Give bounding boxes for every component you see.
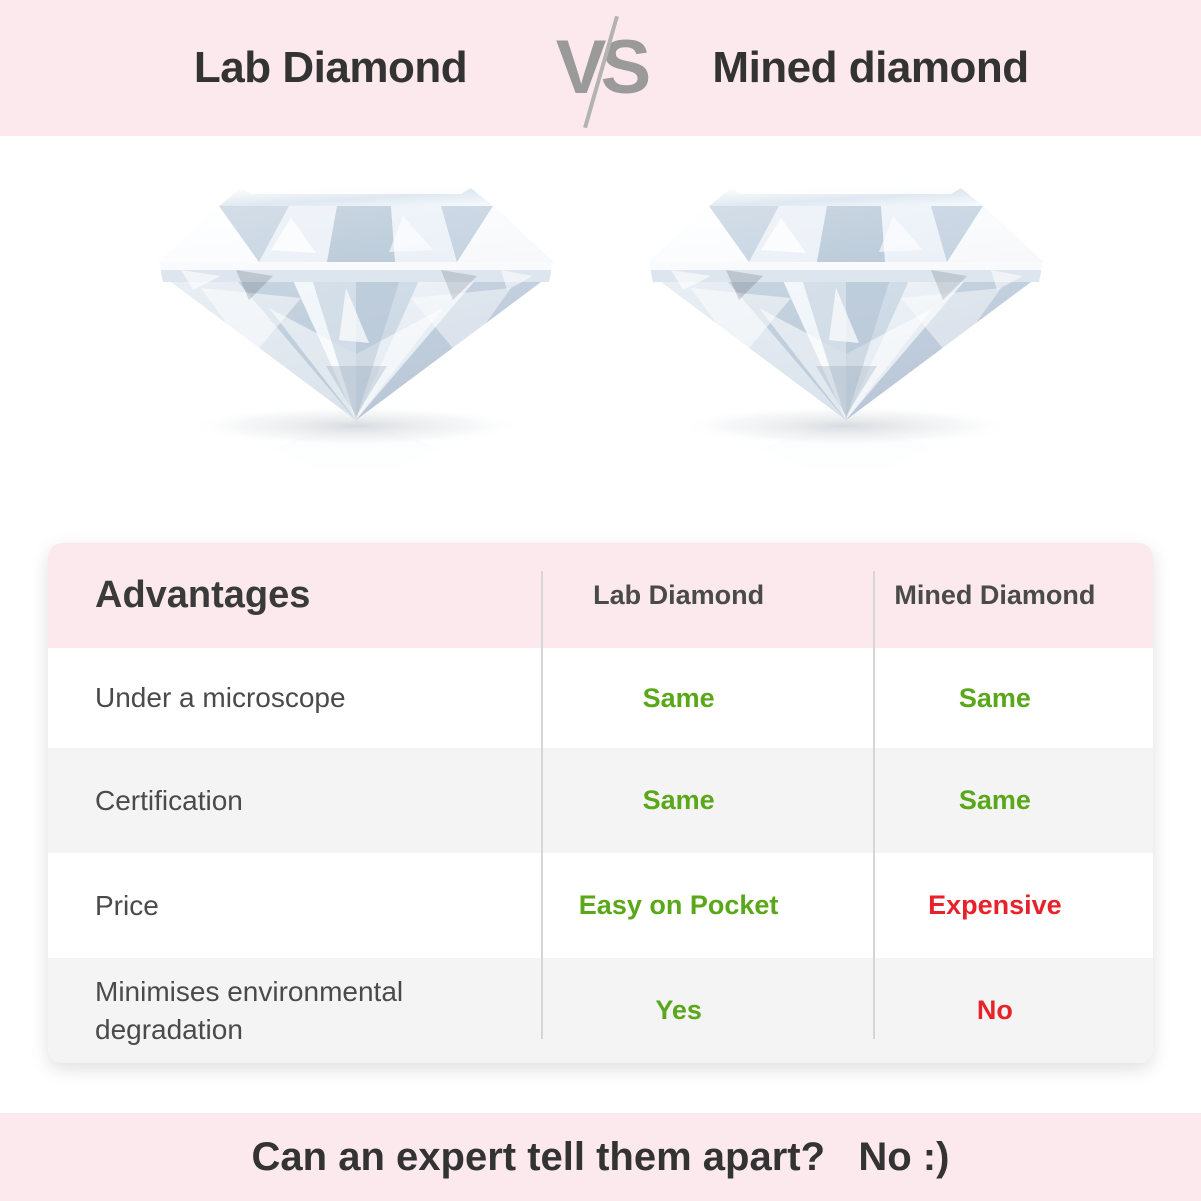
table-header-advantages: Advantages: [48, 570, 520, 621]
page-title-lab-diamond: Lab Diamond: [121, 43, 541, 93]
table-row: Under a microscope Same Same: [48, 648, 1153, 748]
table-header-mined-diamond: Mined Diamond: [837, 580, 1153, 611]
table-row: Minimises environmental degradation Yes …: [48, 958, 1153, 1063]
row-value-lab: Yes: [520, 995, 836, 1026]
row-value-lab: Same: [520, 785, 836, 816]
row-value-mined: Expensive: [837, 890, 1153, 921]
column-divider-1: [541, 571, 543, 1039]
footer-band: Can an expert tell them apart? No :): [0, 1113, 1201, 1201]
table-header-lab-diamond: Lab Diamond: [520, 580, 836, 611]
lab-diamond-image: [141, 158, 571, 518]
versus-badge: VS: [541, 8, 661, 128]
table-row: Price Easy on Pocket Expensive: [48, 853, 1153, 958]
comparison-table: Advantages Lab Diamond Mined Diamond Und…: [48, 543, 1153, 1063]
row-value-lab: Easy on Pocket: [520, 890, 836, 921]
diamond-illustration-mined: [631, 158, 1061, 518]
row-label: Price: [48, 887, 520, 925]
comparison-table-card: Advantages Lab Diamond Mined Diamond Und…: [48, 543, 1153, 1063]
column-divider-2: [873, 571, 875, 1039]
row-value-lab: Same: [520, 683, 836, 714]
row-value-mined: Same: [837, 683, 1153, 714]
page-title-mined-diamond: Mined diamond: [661, 43, 1081, 93]
row-value-mined: No: [837, 995, 1153, 1026]
row-value-mined: Same: [837, 785, 1153, 816]
table-header-row: Advantages Lab Diamond Mined Diamond: [48, 543, 1153, 648]
row-label: Under a microscope: [48, 679, 520, 717]
footer-question: Can an expert tell them apart? No :): [252, 1135, 950, 1180]
row-label: Minimises environmental degradation: [48, 973, 520, 1049]
row-label: Certification: [48, 782, 520, 820]
mined-diamond-image: [631, 158, 1061, 518]
diamond-illustration-lab: [141, 158, 571, 518]
diamond-image-stage: [0, 136, 1201, 543]
header-band: Lab Diamond VS Mined diamond: [0, 0, 1201, 136]
table-row: Certification Same Same: [48, 748, 1153, 853]
